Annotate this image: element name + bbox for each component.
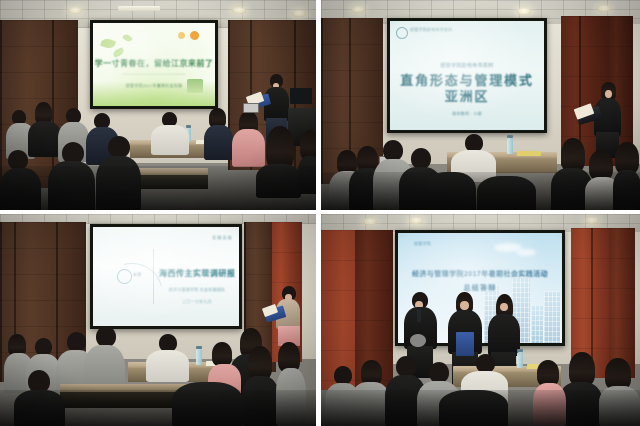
audience-member (533, 360, 567, 426)
slide-title: 学一寸青春在，留给江京来前了 (93, 59, 215, 69)
torso (613, 170, 640, 210)
torso (477, 176, 536, 210)
torso (14, 390, 65, 426)
projection-screen: 学一寸青春在，留给江京来前了 ——————————————— 经管学院2017年… (90, 20, 218, 109)
slide-cyan-title: 经管学院赴哈布市农村 经管学院赴哈布市农村 直角形态与管理模式 亚洲区 指导教师… (390, 21, 544, 130)
presenter-face (500, 303, 508, 311)
downlight-icon (409, 217, 423, 224)
downlight-icon (363, 218, 377, 225)
slide-title-line2: 亚洲区 (390, 89, 544, 105)
head (429, 362, 449, 383)
torso (256, 164, 301, 198)
lecture-room-scene: 实践总结 大学 海西传主实现调研报 经济与管理学院 社会实践团队 二〇一七年九月 (0, 214, 316, 426)
lecture-room-scene: 学一寸青春在，留给江京来前了 ——————————————— 经管学院2017年… (0, 0, 316, 210)
torso (599, 386, 640, 426)
shirt-print (410, 334, 426, 347)
presenter-torso (488, 314, 520, 356)
collage-panel-top-right: 经管学院赴哈布市农村 经管学院赴哈布市农村 直角形态与管理模式 亚洲区 指导教师… (321, 0, 640, 210)
head (108, 136, 130, 158)
collage-panel-bottom-right: 经管学院 经济与管理学院2017年暑期社会实践活动 总结答辩 (321, 214, 640, 426)
university-seal-icon (396, 27, 408, 39)
torso (48, 161, 95, 210)
downlight-icon (292, 10, 306, 17)
presenter-certificate (456, 332, 474, 356)
slide-emblem-text: 大学 (133, 272, 141, 277)
bottle-cap (196, 346, 202, 349)
lecture-room-scene: 经管学院赴哈布市农村 经管学院赴哈布市农村 直角形态与管理模式 亚洲区 指导教师… (321, 0, 640, 210)
desk-front (60, 392, 190, 408)
torso (439, 390, 508, 426)
audience-member-front (96, 136, 142, 210)
bottle-cap (507, 135, 513, 138)
slide-title: 经济与管理学院2017年暑期社会实践活动 (398, 271, 562, 280)
audience-member (150, 112, 190, 152)
torso (146, 350, 189, 382)
downlight-icon (517, 8, 531, 15)
presentation-award-scene: 经管学院 经济与管理学院2017年暑期社会实践活动 总结答辩 (321, 214, 640, 426)
downlight-icon (351, 6, 365, 13)
leaf-icon (122, 33, 133, 43)
badge-circle (178, 32, 185, 39)
slide-footnote: 二〇一七年九月 (159, 299, 235, 304)
slide-divider (153, 249, 154, 304)
building-graphic (544, 291, 560, 343)
hair (569, 352, 595, 386)
hair (589, 150, 613, 180)
badge-circle (190, 31, 199, 40)
head (411, 148, 431, 169)
audience-member-front (425, 172, 477, 210)
wood-wall-panel-far-right (609, 228, 635, 378)
slide-header: 经管学院 (414, 241, 431, 246)
torso (425, 172, 476, 210)
downlight-icon (585, 217, 599, 224)
hair-ponytail (248, 346, 272, 380)
slide-white-emblem: 实践总结 大学 海西传主实现调研报 经济与管理学院 社会实践团队 二〇一七年九月 (93, 227, 239, 326)
presenter-face (460, 301, 469, 310)
audience-member-front (14, 370, 66, 426)
torso (242, 376, 279, 426)
torso (298, 156, 316, 194)
slide-logo-text: 经管学院赴哈布市农村 (410, 27, 452, 32)
projection-screen-surface: 实践总结 大学 海西传主实现调研报 经济与管理学院 社会实践团队 二〇一七年九月 (93, 227, 239, 326)
hair (561, 138, 585, 172)
audience-member-front (172, 382, 244, 426)
projection-screen: 实践总结 大学 海西传主实现调研报 经济与管理学院 社会实践团队 二〇一七年九月 (90, 224, 242, 329)
water-bottle (507, 138, 513, 154)
presenter-face (605, 90, 612, 98)
slide-footnote: 指导教师：小朋 (390, 111, 544, 116)
audience-member (146, 334, 190, 380)
torso (276, 368, 306, 426)
water-bottle (517, 352, 523, 368)
torso (172, 382, 243, 426)
torso (204, 125, 233, 160)
downlight-icon (232, 7, 246, 14)
projection-screen-surface: 学一寸青春在，留给江京来前了 ——————————————— 经管学院2017年… (93, 23, 215, 106)
water-bottle (196, 349, 202, 365)
downlight-icon (68, 7, 82, 14)
slide-green-eco: 学一寸青春在，留给江京来前了 ——————————————— 经管学院2017年… (93, 23, 215, 106)
monitor (290, 88, 312, 104)
audience-member (298, 130, 316, 192)
hair (212, 342, 232, 366)
audience-member (204, 108, 234, 160)
slide-title: 海西传主实现调研报 (159, 269, 235, 279)
microphone (417, 309, 421, 322)
head (396, 356, 416, 377)
leaf-icon (100, 37, 116, 50)
slide-header: 经管学院赴哈布市农村 (390, 63, 544, 69)
audience-member-front (0, 150, 42, 210)
torso (151, 125, 189, 155)
slide-title: 直角形态与管理模式 (390, 73, 544, 89)
paper-sheet (517, 151, 542, 156)
slide-subtitle: ——————————————— (111, 71, 197, 76)
slide-subtitle: 经济与管理学院 社会实践团队 (159, 287, 235, 292)
torso (96, 156, 141, 210)
projection-screen: 经管学院赴哈布市农村 经管学院赴哈布市农村 直角形态与管理模式 亚洲区 指导教师… (387, 18, 547, 133)
torso (0, 168, 41, 210)
bottle-cap (517, 349, 523, 352)
leaf-icon (112, 47, 125, 58)
downlight-icon (597, 5, 611, 12)
audience-member-front (477, 176, 537, 210)
collage-panel-bottom-left: 实践总结 大学 海西传主实现调研报 经济与管理学院 社会实践团队 二〇一七年九月 (0, 214, 316, 426)
slide-corner-label: 实践总结 (212, 235, 233, 240)
smartphone (243, 103, 259, 113)
photo-collage: 学一寸青春在，留给江京来前了 ——————————————— 经管学院2017年… (0, 0, 640, 426)
cloud-graphic (516, 249, 536, 256)
torso (533, 383, 566, 426)
figure-group-graphic (187, 79, 203, 93)
building-graphic (531, 305, 543, 343)
ceiling-light-strip (118, 6, 160, 11)
audience-member-front (439, 390, 509, 426)
audience-member-front (48, 142, 96, 210)
collage-panel-top-left: 学一寸青春在，留给江京来前了 ——————————————— 经管学院2017年… (0, 0, 316, 210)
audience-member (613, 142, 640, 210)
head (96, 326, 116, 347)
audience-member (599, 358, 640, 426)
audience-member (256, 126, 302, 196)
projection-screen-surface: 经管学院赴哈布市农村 经管学院赴哈布市农村 直角形态与管理模式 亚洲区 指导教师… (390, 21, 544, 130)
audience-member (242, 346, 280, 426)
head (8, 150, 28, 170)
audience-member (276, 342, 306, 426)
